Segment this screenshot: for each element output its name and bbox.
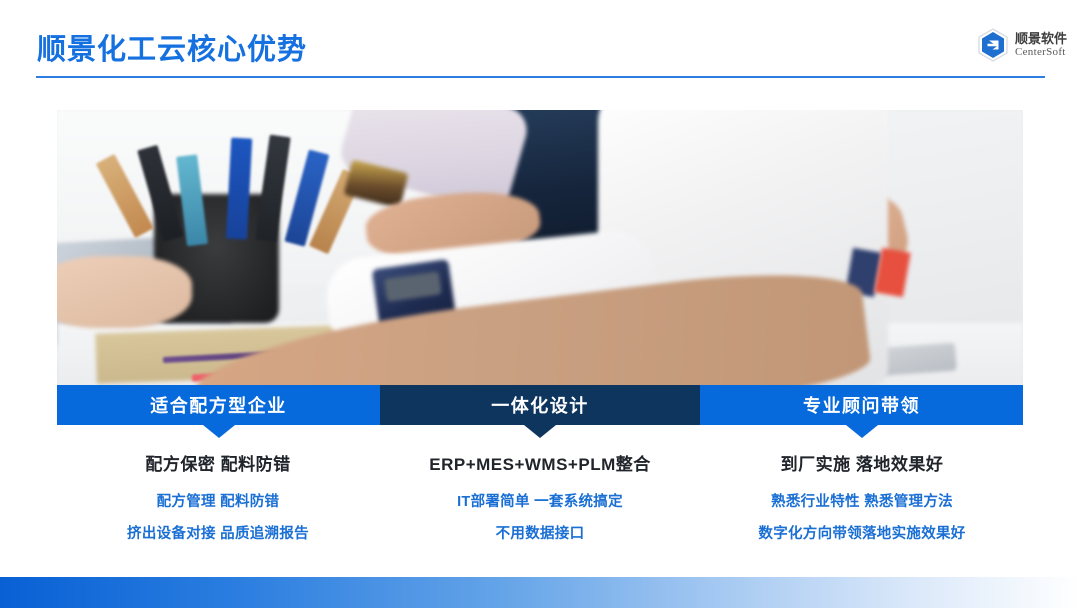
logo-name-cn: 顺景软件 bbox=[1015, 32, 1067, 45]
hero-photo bbox=[57, 110, 1023, 390]
chevron-down-icon bbox=[846, 425, 878, 438]
feature-line: 配方管理 配料防错 bbox=[57, 490, 379, 511]
feature-column-1: 配方保密 配料防错 配方管理 配料防错 挤出设备对接 品质追溯报告 bbox=[57, 450, 379, 560]
feature-heading-2: ERP+MES+WMS+PLM整合 bbox=[379, 450, 701, 475]
banner-label-3: 专业顾问带领 bbox=[803, 392, 920, 418]
slide-header: 顺景化工云核心优势 顺景软件 CenterSoft bbox=[0, 0, 1080, 90]
feature-line: 数字化方向带领落地实施效果好 bbox=[701, 522, 1023, 543]
feature-line: 不用数据接口 bbox=[379, 522, 701, 543]
hexagon-s-logo-icon bbox=[977, 28, 1009, 62]
chevron-down-icon bbox=[203, 425, 235, 438]
footer-gradient-bar bbox=[0, 577, 1080, 608]
banner-column-1[interactable]: 适合配方型企业 bbox=[57, 385, 380, 425]
feature-line: 熟悉行业特性 熟悉管理方法 bbox=[701, 490, 1023, 511]
feature-columns: 配方保密 配料防错 配方管理 配料防错 挤出设备对接 品质追溯报告 ERP+ME… bbox=[57, 450, 1023, 560]
banner-column-3[interactable]: 专业顾问带领 bbox=[700, 385, 1023, 425]
feature-heading-1: 配方保密 配料防错 bbox=[57, 450, 379, 475]
feature-column-3: 到厂实施 落地效果好 熟悉行业特性 熟悉管理方法 数字化方向带领落地实施效果好 bbox=[701, 450, 1023, 560]
feature-heading-3: 到厂实施 落地效果好 bbox=[701, 450, 1023, 475]
brand-logo: 顺景软件 CenterSoft bbox=[977, 28, 1067, 62]
photo-hand bbox=[57, 256, 192, 329]
title-underline-divider bbox=[36, 76, 1045, 78]
chevron-down-icon bbox=[524, 425, 556, 438]
feature-column-2: ERP+MES+WMS+PLM整合 IT部署简单 一套系统搞定 不用数据接口 bbox=[379, 450, 701, 560]
banner-label-1: 适合配方型企业 bbox=[150, 392, 287, 418]
page-title: 顺景化工云核心优势 bbox=[37, 26, 307, 68]
feature-line: IT部署简单 一套系统搞定 bbox=[379, 490, 701, 511]
banner-row: 适合配方型企业 一体化设计 专业顾问带领 bbox=[57, 385, 1023, 425]
slide-root: 顺景化工云核心优势 顺景软件 CenterSoft bbox=[0, 0, 1080, 608]
logo-wordmark: 顺景软件 CenterSoft bbox=[1015, 32, 1067, 58]
logo-name-en: CenterSoft bbox=[1015, 47, 1067, 58]
banner-column-2[interactable]: 一体化设计 bbox=[380, 385, 700, 425]
feature-line: 挤出设备对接 品质追溯报告 bbox=[57, 522, 379, 543]
banner-label-2: 一体化设计 bbox=[491, 392, 589, 418]
